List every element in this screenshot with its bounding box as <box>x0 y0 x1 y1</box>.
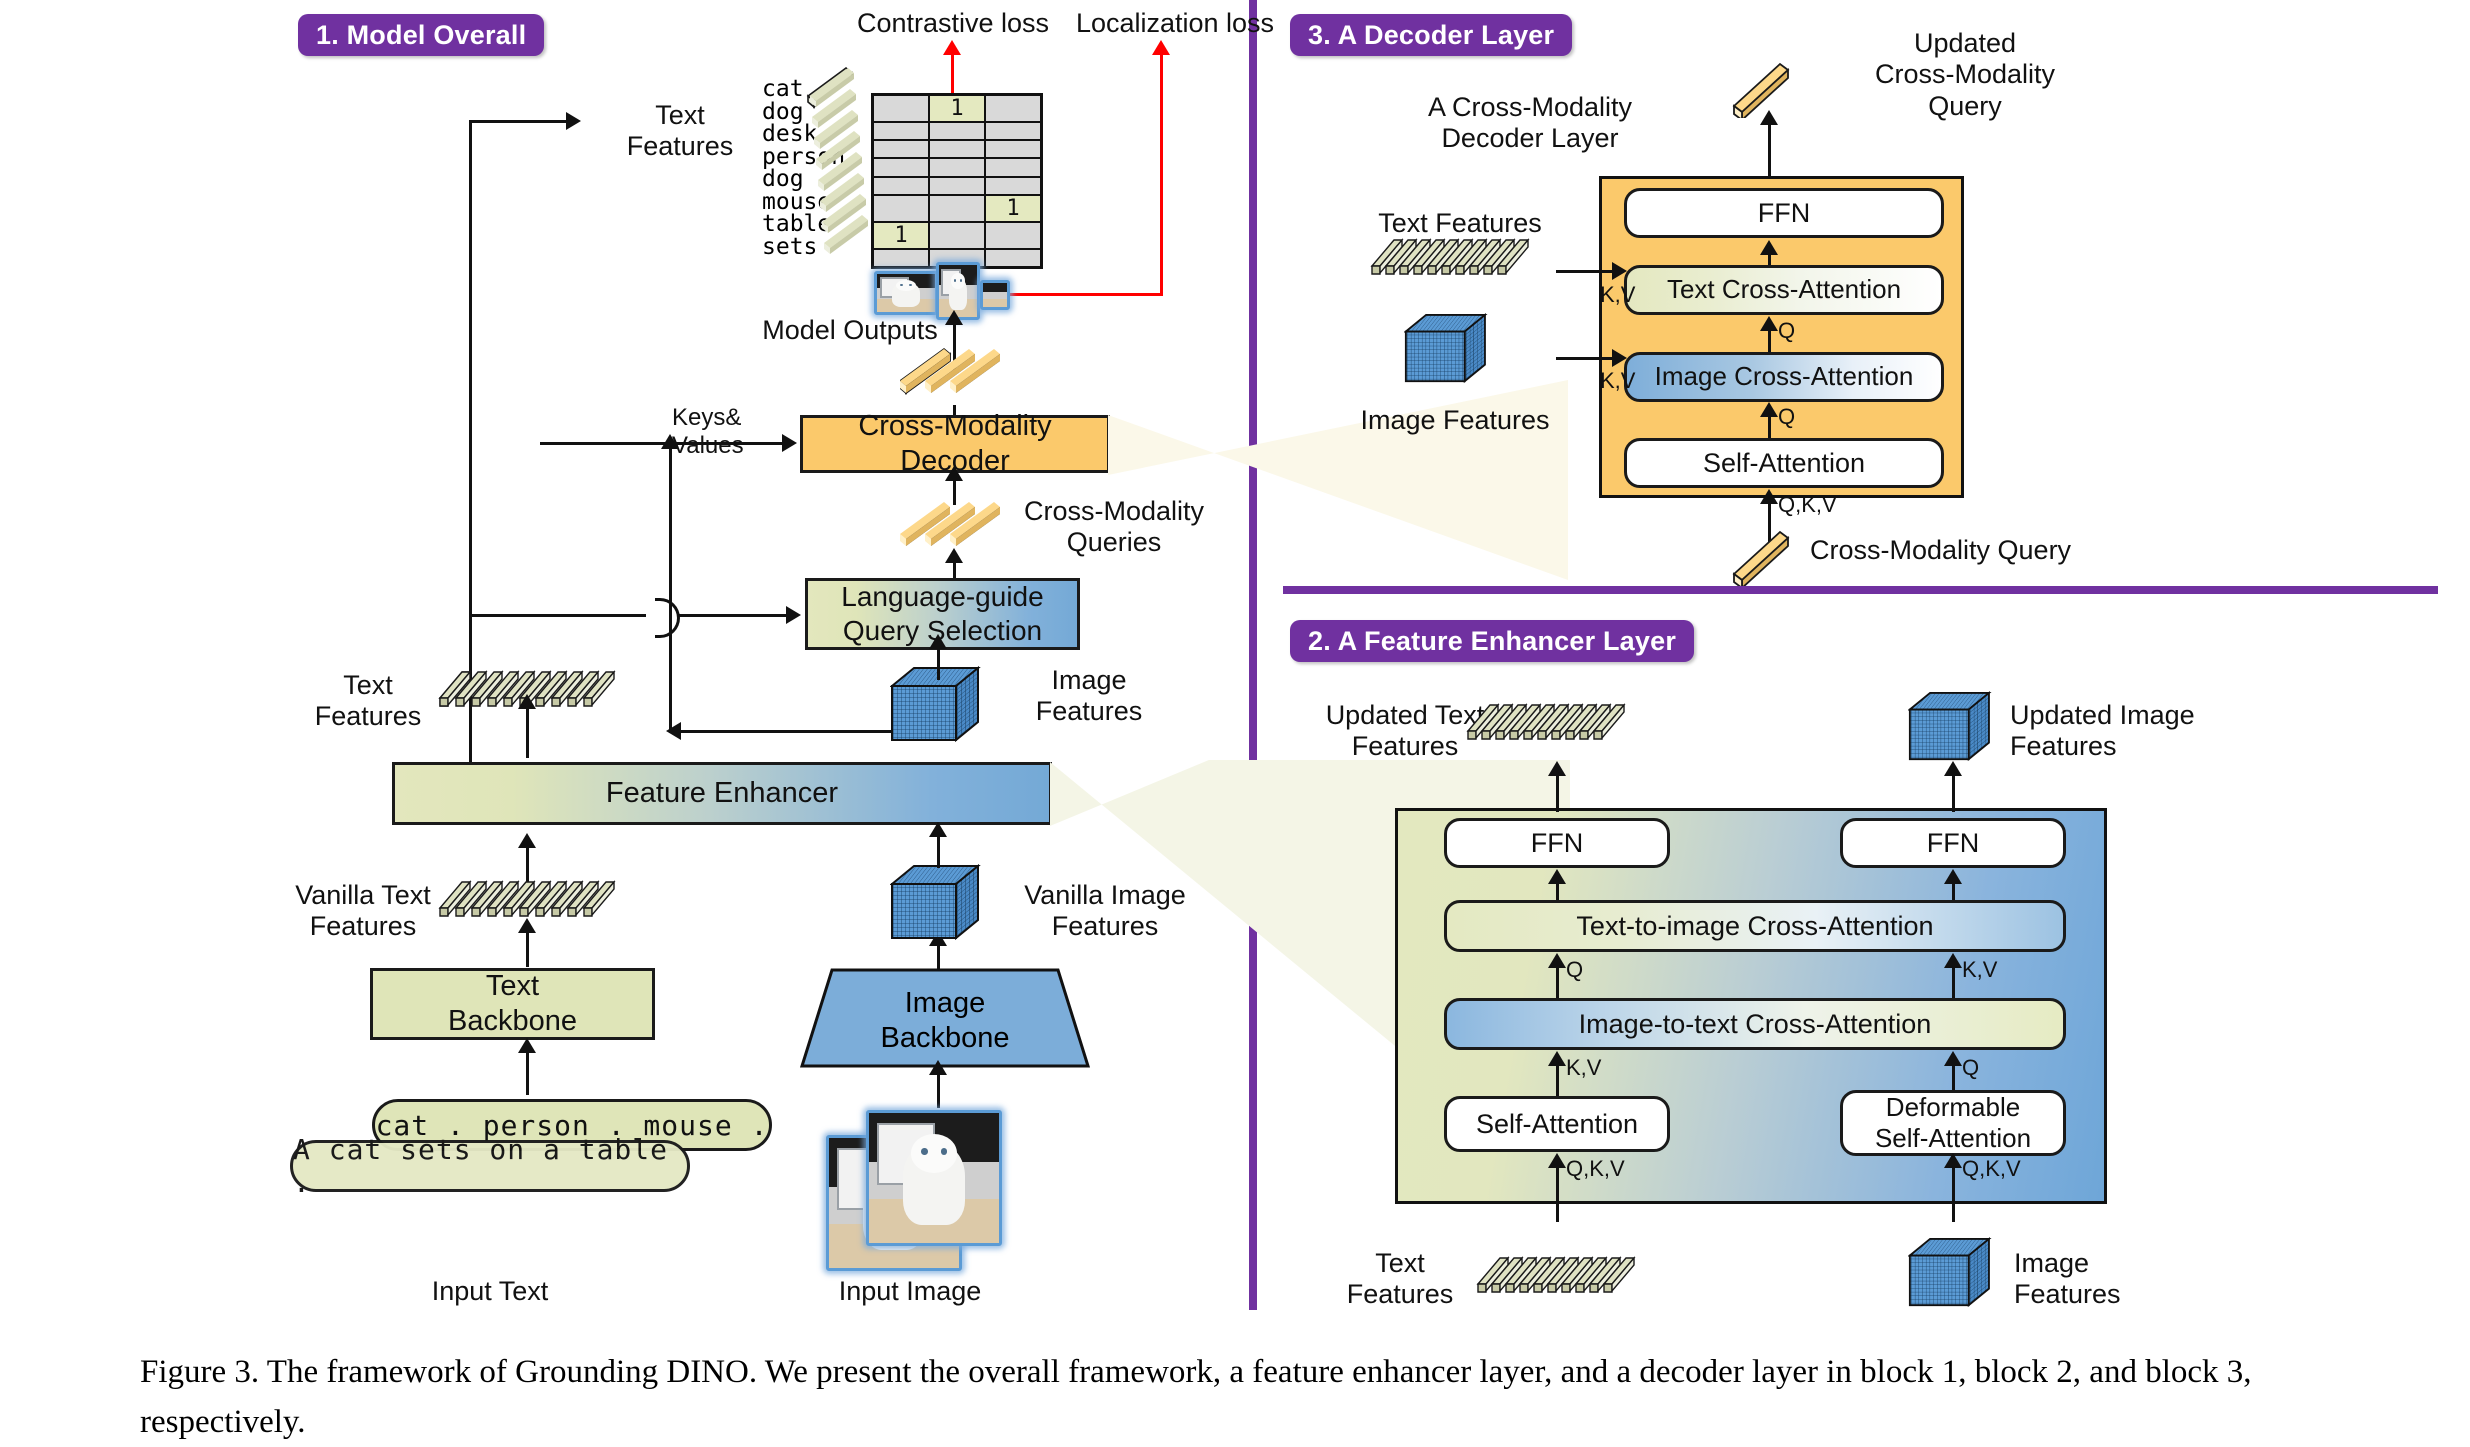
decoder-qkv-arrow <box>1760 489 1778 504</box>
vanilla-text-up-arrow <box>518 833 536 848</box>
sa-qkv-arrow <box>1548 1153 1566 1168</box>
text-features-mid-slabs <box>440 670 640 718</box>
sa-qkv-line <box>1556 1160 1559 1222</box>
vertical-divider <box>1249 0 1257 1310</box>
decoder-ffn-in-arrow <box>1760 240 1778 255</box>
enhancer-ffn-left[interactable]: FFN <box>1444 818 1670 868</box>
enhancer-image-out-arrow <box>1944 761 1962 776</box>
vanilla-image-features-label: Vanilla Image Features <box>1000 880 1210 943</box>
text-backbone-out-arrow <box>518 918 536 933</box>
enhancer-ffn-right-label: FFN <box>1927 827 1979 859</box>
image-features-bus <box>669 442 672 732</box>
t2i-kv-arrow <box>1944 953 1962 968</box>
decoder-image-kv-line <box>1556 357 1616 360</box>
lgqs-in-arrow <box>786 606 801 624</box>
t2i-q-arrow <box>1548 953 1566 968</box>
localization-loss-label: Localization loss <box>1060 8 1290 39</box>
vanilla-image-up-arrow <box>929 822 947 837</box>
block3-title: 3. A Decoder Layer <box>1290 14 1572 56</box>
image-backbone[interactable]: Image Backbone <box>800 968 1090 1068</box>
decoder-q-image-label: Q <box>1778 404 1818 430</box>
outputs-feed-arrow <box>945 310 963 325</box>
updated-cross-modality-query-label: Updated Cross-Modality Query <box>1830 28 2100 122</box>
image-features-up-arrow <box>929 634 947 649</box>
enhancer-text-features-slabs <box>1478 1256 1668 1296</box>
decoder-in-arrow <box>945 466 963 481</box>
block3-title-label: 3. A Decoder Layer <box>1308 20 1554 51</box>
enhancer-image-features-label: Image Features <box>2014 1248 2184 1311</box>
i2t-kv-label: K,V <box>1566 1055 1636 1081</box>
matrix-cell: 1 <box>930 96 984 121</box>
similarity-matrix: 1 1 1 <box>871 93 1043 269</box>
matrix-cell: 1 <box>986 196 1040 221</box>
t2i-q-label: Q <box>1566 957 1606 983</box>
matrix-cell <box>874 141 928 157</box>
input-text-label: Input Text <box>390 1276 590 1307</box>
decoder-image-q-arrow <box>1760 402 1778 417</box>
matrix-cell <box>874 196 928 221</box>
enhancer-ffn-right[interactable]: FFN <box>1840 818 2066 868</box>
decoder-self-attention[interactable]: Self-Attention <box>1624 438 1944 488</box>
t2i-kv-label: K,V <box>1962 957 2032 983</box>
output-thumbnail-small <box>980 280 1010 310</box>
text-backbone-label: Text Backbone <box>448 969 577 1039</box>
image-features-label: Image Features <box>1004 665 1174 728</box>
model-outputs-label: Model Outputs <box>740 315 960 346</box>
cross-modality-query-bar <box>1728 526 1798 591</box>
decoder-text-features-label: Text Features <box>1340 208 1580 239</box>
decoder-qkv-label: Q,K,V <box>1778 492 1858 518</box>
contrastive-loss-arrow <box>943 40 961 55</box>
contrastive-loss-line <box>951 50 954 96</box>
matrix-cell <box>986 250 1040 266</box>
lgqs-out-arrow <box>945 548 963 563</box>
block2-title: 2. A Feature Enhancer Layer <box>1290 620 1694 662</box>
cross-modality-query-label: Cross-Modality Query <box>1810 535 2130 566</box>
decoder-image-features-cube <box>1404 312 1496 391</box>
input-text-caption-label: A cat sets on a table . <box>293 1133 687 1199</box>
dsa-qkv-line <box>1952 1160 1955 1222</box>
i2t-q-label: Q <box>1962 1055 2002 1081</box>
enhancer-self-attention[interactable]: Self-Attention <box>1444 1096 1670 1152</box>
decoder-self-attention-label: Self-Attention <box>1703 447 1865 479</box>
matrix-cell <box>930 123 984 139</box>
text-to-image-label: Text-to-image Cross-Attention <box>1576 910 1933 942</box>
contrastive-loss-label: Contrastive loss <box>838 8 1068 39</box>
matrix-cell <box>986 123 1040 139</box>
matrix-cell <box>930 223 984 248</box>
localization-loss-line-h <box>1003 293 1163 296</box>
text-to-image-cross-attention[interactable]: Text-to-image Cross-Attention <box>1444 900 2066 952</box>
enhancer-image-features-cube <box>1908 1236 2000 1315</box>
input-image-label: Input Image <box>810 1276 1010 1307</box>
text-backbone-in-arrow <box>518 1038 536 1053</box>
figure-canvas: 1. Model Overall Contrastive loss Locali… <box>0 0 2470 1447</box>
text-features-mid-label: Text Features <box>288 670 448 733</box>
decoder-image-kv-arrow <box>1612 349 1627 367</box>
cross-modality-decoder[interactable]: Cross-Modality Decoder <box>800 415 1110 473</box>
matrix-cell <box>930 196 984 221</box>
cross-modality-queries-label: Cross-Modality Queries <box>1004 496 1224 559</box>
matrix-cell <box>986 96 1040 121</box>
sa-qkv-label: Q,K,V <box>1566 1156 1656 1182</box>
updated-image-features-cube <box>1908 690 2000 769</box>
matrix-cell <box>874 159 928 175</box>
image-to-text-label: Image-to-text Cross-Attention <box>1579 1008 1932 1040</box>
text-features-feed-line-h <box>469 120 569 123</box>
decoder-kv-image-label: K,V <box>1600 368 1650 394</box>
output-thumbnail-wide <box>874 271 938 315</box>
enhancer-text-features-label: Text Features <box>1320 1248 1480 1311</box>
decoder-ffn[interactable]: FFN <box>1624 188 1944 238</box>
figure-caption-text: Figure 3. The framework of Grounding DIN… <box>140 1354 2252 1440</box>
matrix-cell <box>874 123 928 139</box>
figure-caption: Figure 3. The framework of Grounding DIN… <box>140 1348 2370 1447</box>
vanilla-text-features-slabs <box>440 880 640 928</box>
image-features-bus-h <box>669 730 915 733</box>
i2t-kv-arrow <box>1548 1051 1566 1066</box>
decoder-text-q-arrow <box>1760 316 1778 331</box>
matrix-cell <box>986 141 1040 157</box>
updated-text-features-slabs <box>1468 703 1658 743</box>
dsa-qkv-label: Q,K,V <box>1962 1156 2052 1182</box>
updated-query-arrow <box>1760 110 1778 125</box>
block2-title-label: 2. A Feature Enhancer Layer <box>1308 626 1676 657</box>
decoder-layer-name-label: A Cross-Modality Decoder Layer <box>1380 92 1680 155</box>
enhancer-text-out-arrow <box>1548 761 1566 776</box>
image-cross-attention[interactable]: Image Cross-Attention <box>1624 352 1944 402</box>
decoder-text-kv-arrow <box>1612 262 1627 280</box>
query-bars-decoder-output <box>900 345 1020 408</box>
ffn-right-in-arrow <box>1944 869 1962 884</box>
deformable-self-attention-label: Deformable Self-Attention <box>1875 1092 2031 1154</box>
updated-image-features-label: Updated Image Features <box>2010 700 2240 763</box>
dsa-qkv-arrow <box>1944 1153 1962 1168</box>
ffn-left-in-arrow <box>1548 869 1566 884</box>
matrix-cell <box>986 178 1040 194</box>
image-backbone-in-arrow <box>929 1060 947 1075</box>
vanilla-image-features-cube <box>890 864 990 947</box>
input-text-caption-pill[interactable]: A cat sets on a table . <box>290 1140 690 1192</box>
block1-title-label: 1. Model Overall <box>316 20 526 51</box>
deformable-self-attention[interactable]: Deformable Self-Attention <box>1840 1090 2066 1156</box>
matrix-cell <box>986 159 1040 175</box>
decoder-ffn-label: FFN <box>1758 197 1810 229</box>
decoder-text-features-slabs <box>1372 238 1562 278</box>
decoder-kv-text-label: K,V <box>1600 282 1650 308</box>
matrix-cell <box>986 223 1040 248</box>
keys-values-arrow <box>782 434 797 452</box>
block1-title: 1. Model Overall <box>298 14 544 56</box>
matrix-cell <box>874 250 928 266</box>
matrix-cell: 1 <box>874 223 928 248</box>
keys-values-label: Keys& Values <box>672 404 792 460</box>
text-features-feed-arrow <box>566 112 581 130</box>
image-features-bus-arrow <box>661 434 679 449</box>
image-backbone-label: Image Backbone <box>800 986 1090 1056</box>
decoder-q-text-label: Q <box>1778 318 1818 344</box>
enhancer-ffn-left-label: FFN <box>1531 827 1583 859</box>
text-cross-attention-label: Text Cross-Attention <box>1667 274 1901 305</box>
image-cross-attention-label: Image Cross-Attention <box>1655 361 1914 392</box>
enhancer-self-attention-label: Self-Attention <box>1476 1108 1638 1140</box>
matrix-cell <box>930 178 984 194</box>
text-cross-attention[interactable]: Text Cross-Attention <box>1624 265 1944 315</box>
i2t-q-arrow <box>1944 1051 1962 1066</box>
matrix-cell <box>874 178 928 194</box>
feature-enhancer[interactable]: Feature Enhancer <box>392 762 1052 825</box>
decoder-image-features-label: Image Features <box>1340 405 1570 436</box>
text-features-mid-up-arrow <box>518 694 536 709</box>
image-features-bus-arrowleft <box>666 722 681 740</box>
matrix-cell <box>930 159 984 175</box>
localization-loss-line-v <box>1160 50 1163 296</box>
text-backbone[interactable]: Text Backbone <box>370 968 655 1040</box>
horizontal-divider <box>1283 586 2438 594</box>
input-image-front <box>866 1110 1002 1246</box>
updated-query-line <box>1768 118 1771 176</box>
image-features-cube <box>890 666 990 749</box>
decoder-text-kv-line <box>1556 270 1616 273</box>
text-features-top-label: Text Features <box>600 100 760 163</box>
matrix-cell <box>930 141 984 157</box>
localization-loss-arrow <box>1152 40 1170 55</box>
vanilla-text-features-label: Vanilla Text Features <box>268 880 458 943</box>
image-to-text-cross-attention[interactable]: Image-to-text Cross-Attention <box>1444 998 2066 1050</box>
feature-enhancer-label: Feature Enhancer <box>606 776 838 811</box>
text-features-mid-tap <box>469 614 529 617</box>
matrix-cell <box>874 96 928 121</box>
